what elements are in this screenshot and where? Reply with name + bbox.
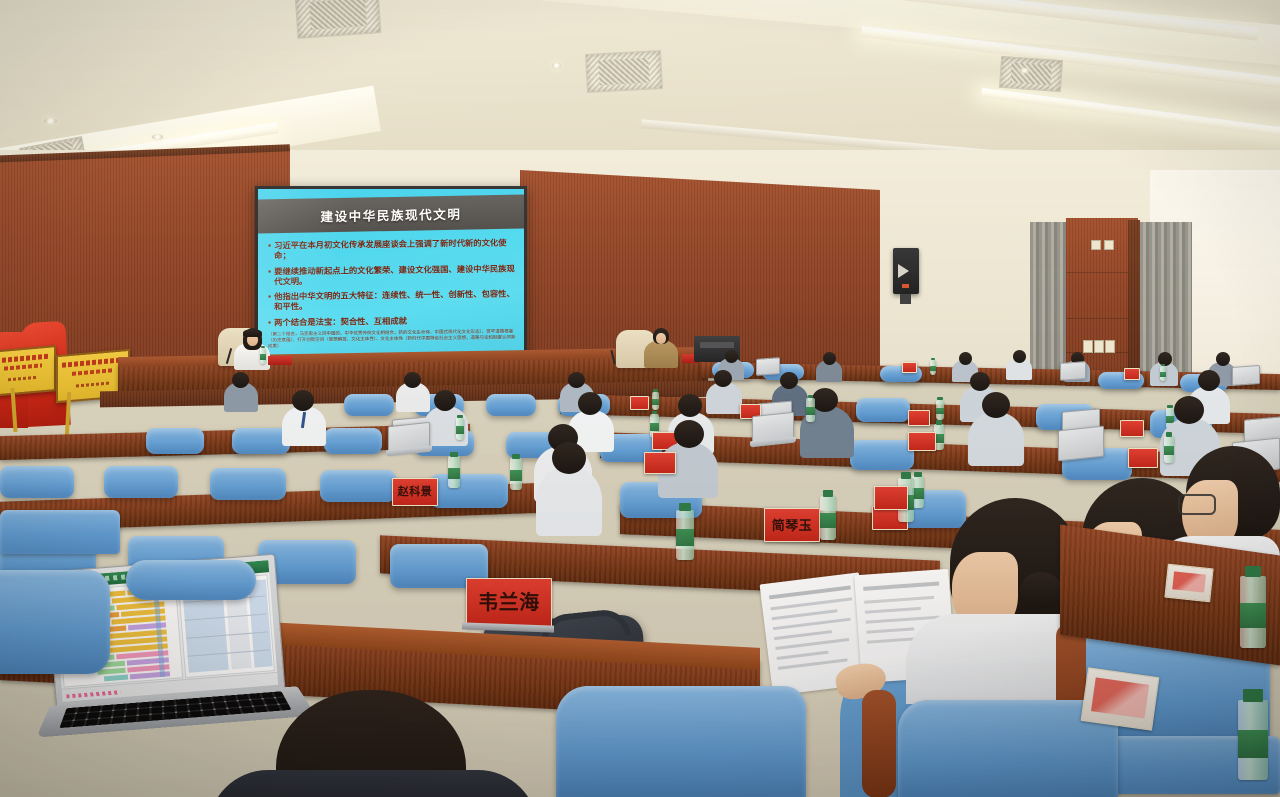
placard-row-b-3: [908, 410, 930, 426]
speaker-right-face: [656, 333, 666, 344]
seat-row-b-5: [856, 398, 910, 422]
attendee-a1-head: [725, 350, 738, 363]
placard-row-b-1: [630, 396, 649, 410]
plaque-text-1: [62, 357, 124, 367]
attendee-d2-head: [674, 420, 704, 448]
recessed-downlight-2: [44, 118, 57, 124]
wall-outlet-lower-2: [1094, 340, 1104, 353]
attendee-c4-head: [678, 394, 702, 417]
placard-row-e-2: [874, 486, 908, 510]
wall-speaker: [893, 248, 919, 294]
bottle-row-c-1: [456, 418, 464, 440]
attendee-c6: [968, 412, 1024, 466]
bottle-row-a-1: [930, 360, 936, 375]
bottle-foreground-right-2: [1238, 700, 1268, 780]
foreground-attendee-left-shoulder: [208, 770, 538, 797]
recessed-downlight-1: [552, 62, 561, 69]
speaker-left-hair-front: [243, 329, 262, 337]
glasses-frame-right-icon: [1178, 494, 1216, 515]
bottle-row-e-3: [676, 510, 694, 560]
placard-row-c-3: [1128, 448, 1158, 468]
attendee-b5-head: [780, 372, 798, 389]
wall-outlet-upper-2: [1104, 240, 1114, 250]
attendee-c6-head: [982, 392, 1010, 418]
placard-wei-lan-hai: 韦兰海: [466, 578, 552, 628]
placard-jian-qin: 简琴玉: [764, 508, 820, 542]
attendee-c3-head: [578, 392, 602, 415]
seat-row-d-3: [210, 468, 286, 500]
bottle-row-b-1: [652, 392, 659, 410]
av-equipment-panel: [700, 342, 734, 348]
hvac-diffuser-2: [585, 50, 663, 93]
attendee-bun-knot: [1020, 572, 1062, 608]
attendee-b6-head: [970, 372, 990, 391]
slide-bullet-4-text: 两个结合是法宝：契合性、互相成就: [274, 316, 407, 328]
attendee-b3-head: [568, 372, 585, 388]
laptop-row-a-1[interactable]: [756, 357, 780, 376]
wood-column-edge: [1128, 220, 1140, 386]
placard-zhao-ke-jing-text: 赵科景: [398, 487, 433, 498]
speaker-right-body: [644, 340, 678, 368]
placard-foreground-right-1: [1164, 564, 1213, 603]
bullet-dot-icon: •: [268, 266, 271, 287]
bottle-row-b-2: [936, 400, 944, 420]
wall-outlet-lower-1: [1083, 340, 1093, 353]
placard-row-b-4: [1120, 420, 1144, 437]
plaque-text-3: [76, 382, 110, 388]
wall-outlet-upper-1: [1091, 240, 1101, 250]
bullet-dot-icon: •: [268, 292, 271, 313]
seat-foreground-left: [556, 686, 806, 797]
slide-bullet-3: • 他指出中华文明的五大特征：连续性、统一性、创新性、包容性、和平性。: [268, 289, 516, 313]
placard-wei-lan-hai-text: 韦兰海: [478, 593, 540, 613]
seat-row-c-1: [146, 428, 204, 454]
hvac-diffuser-3: [999, 56, 1063, 92]
speaker-tweeter: [898, 264, 909, 278]
slide-bullet-4-note-text: （第二个结合，马克思主义同中国的、中华优秀传统文化相结合，新的文化生命体、中国式…: [268, 328, 516, 349]
attendee-c2-head: [434, 390, 456, 411]
recessed-downlight-3: [152, 134, 163, 140]
attendee-a3-head: [959, 352, 972, 365]
attendee-e1: [536, 466, 602, 536]
seat-row-d-2: [104, 466, 178, 498]
placard-row-a-1: [902, 362, 917, 373]
bottle-row-c-5: [1164, 436, 1174, 463]
seat-row-c-7: [850, 440, 914, 470]
bullet-dot-icon: •: [268, 318, 271, 328]
attendee-c1-head: [292, 390, 314, 411]
seat-foreground-far-left: [0, 570, 110, 674]
column-seam-1: [1066, 272, 1128, 273]
slide-bullet-1: • 习近平在本月初文化传承发展座谈会上强调了新时代新的文化使命；: [268, 237, 516, 261]
attendee-e1-head: [552, 442, 586, 474]
slide-bullet-2-text: 要继续推动新起点上的文化繁荣、建设文化强国、建设中华民族现代文明。: [274, 263, 516, 287]
seat-row-e-left-b: [126, 560, 256, 600]
slide-bullet-4-note: （第二个结合，马克思主义同中国的、中华优秀传统文化相结合，新的文化生命体、中国式…: [268, 328, 516, 349]
seat-row-b-3: [486, 394, 536, 416]
plaque-text-2: [72, 368, 114, 376]
seat-row-d-5: [430, 474, 508, 508]
laptop-row-a-3[interactable]: [1232, 365, 1260, 386]
bottle-row-d-1: [448, 456, 460, 488]
hvac-diffuser-1: [295, 0, 382, 39]
laptop-row-c-3[interactable]: [1058, 426, 1104, 462]
slide-content: 建设中华民族现代文明 • 习近平在本月初文化传承发展座谈会上强调了新时代新的文化…: [258, 189, 524, 365]
attendee-a7-head: [1216, 352, 1230, 366]
slide-title-band: 建设中华民族现代文明: [258, 194, 524, 233]
laptop-row-a-2[interactable]: [1060, 361, 1086, 381]
slide-bullet-2: • 要继续推动新起点上的文化繁荣、建设文化强国、建设中华民族现代文明。: [268, 263, 516, 287]
placard-row-d-2: [644, 452, 676, 474]
attendee-b2-head: [404, 372, 421, 388]
plaque-text-3: [8, 376, 38, 382]
wall-outlet-lower-3: [1105, 340, 1115, 353]
conference-hall-photo: 建设中华民族现代文明 • 习近平在本月初文化传承发展座谈会上强调了新时代新的文化…: [0, 0, 1280, 797]
recessed-downlight-5: [1020, 68, 1029, 73]
placard-foreground-right-2: [1081, 667, 1160, 730]
head-table-folder-left: [268, 356, 292, 365]
speaker-badge: [902, 284, 909, 288]
attendee-b7-head: [1198, 370, 1220, 391]
seat-row-d-1: [0, 466, 74, 498]
bottle-row-c-3: [806, 398, 815, 422]
speaker-bracket: [900, 294, 911, 304]
bottle-row-e-1: [820, 496, 836, 540]
placard-jian-qin-text: 简琴玉: [772, 519, 813, 532]
slide-title: 建设中华民族现代文明: [320, 203, 461, 225]
seat-row-c-3: [324, 428, 382, 454]
column-seam-2: [1066, 318, 1128, 319]
seat-foreground-far-left-cushion: [0, 510, 120, 554]
seat-row-b-1: [344, 394, 394, 416]
attendee-b1-head: [232, 372, 249, 388]
bottle-row-d-2: [510, 458, 522, 490]
slide-bullet-3-text: 他指出中华文明的五大特征：连续性、统一性、创新性、包容性、和平性。: [274, 289, 516, 313]
placard-zhao-ke-jing: 赵科景: [392, 478, 438, 506]
attendee-a2-head: [823, 352, 836, 365]
head-table-bottle: [260, 348, 266, 364]
bullet-dot-icon: •: [268, 240, 271, 261]
attendee-b4-head: [714, 370, 732, 387]
armrest-foreground-mid: [862, 690, 896, 797]
placard-row-a-2: [1124, 368, 1140, 380]
plaque-text-1: [0, 354, 50, 364]
plaque-text-2: [4, 363, 42, 370]
award-plaque-1: [0, 345, 56, 397]
bottle-row-a-2: [1160, 366, 1166, 381]
slide-bullet-4: • 两个结合是法宝：契合性、互相成就: [268, 315, 516, 328]
attendee-a4-head: [1013, 350, 1026, 363]
attendee-c7-head: [1174, 396, 1204, 424]
bottle-foreground-right: [1240, 576, 1266, 648]
slide-bullet-1-text: 习近平在本月初文化传承发展座谈会上强调了新时代新的文化使命；: [274, 237, 516, 261]
placard-row-c-2: [908, 432, 936, 451]
attendee-c5-head: [812, 388, 838, 412]
projection-screen: 建设中华民族现代文明 • 习近平在本月初文化传承发展座谈会上强调了新时代新的文化…: [255, 186, 527, 368]
curtain-left-panel: [1030, 222, 1068, 382]
seat-row-d-4: [320, 470, 396, 502]
slide-bullet-list: • 习近平在本月初文化传承发展座谈会上强调了新时代新的文化使命； • 要继续推动…: [268, 239, 516, 353]
